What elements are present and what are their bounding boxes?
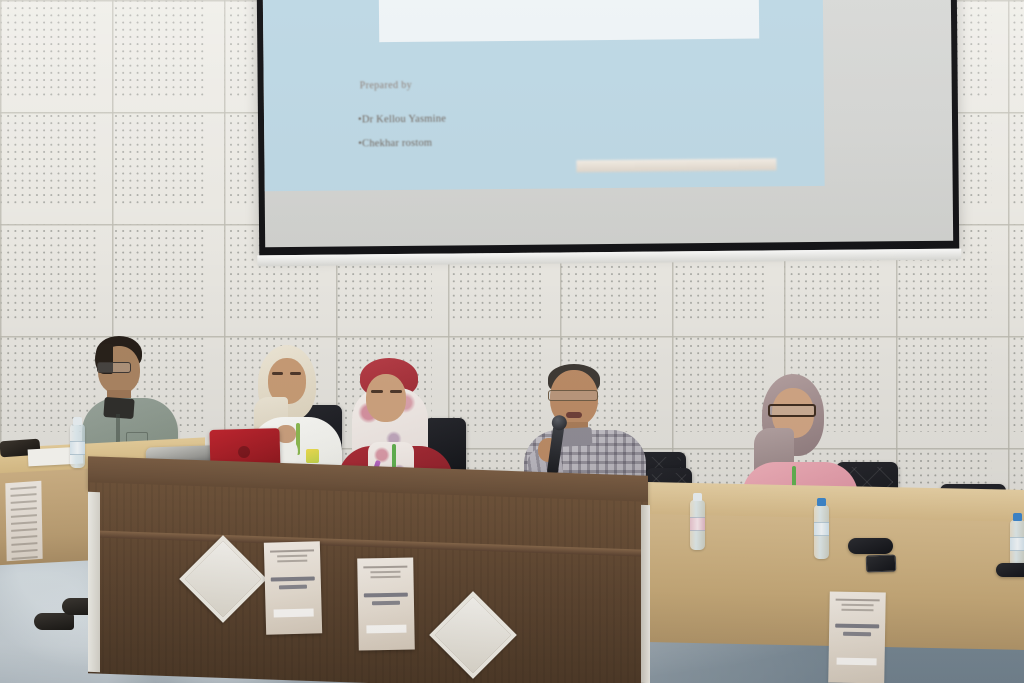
- panelist-5-glasses: [768, 404, 816, 417]
- panelist-4-glasses: [548, 390, 598, 401]
- bottle-label: [1010, 537, 1024, 551]
- panelist-2-badge: [306, 449, 319, 463]
- panelist-3-face-cut: [366, 376, 406, 422]
- panelist-1-shoe-left: [34, 613, 74, 630]
- slide-author-2: •Chekhar rostom: [358, 138, 432, 150]
- poster-left-table: [5, 481, 42, 561]
- water-bottle-left[interactable]: [70, 424, 85, 468]
- poster-podium-2: [357, 558, 415, 651]
- head-table-edge-left: [88, 492, 100, 672]
- slide-bottom-strip: [576, 158, 776, 172]
- projection-screen: Theories” course in the Master’s level a…: [257, 0, 960, 255]
- mobile-phone[interactable]: [866, 554, 897, 572]
- bottle-label: [814, 522, 829, 536]
- projected-slide: Theories” course in the Master’s level a…: [263, 0, 825, 191]
- dark-object-far-right: [996, 563, 1024, 577]
- bottle-cap: [693, 493, 702, 501]
- panelist-1-glasses: [97, 362, 131, 373]
- bottle-cap: [817, 498, 826, 506]
- projection-screen-surface: Theories” course in the Master’s level a…: [263, 0, 953, 247]
- conference-photo-scene: Theories” course in the Master’s level a…: [0, 0, 1024, 683]
- water-bottle-right-1[interactable]: [690, 500, 705, 550]
- slide-prepared-by-label: Prepared by: [360, 80, 413, 92]
- bottle-label: [690, 517, 705, 531]
- slide-white-panel: [378, 0, 759, 42]
- head-table-edge-right: [641, 505, 650, 683]
- panelist-3-brow-a: [371, 390, 383, 393]
- panelist-3-brow-b: [390, 390, 402, 393]
- panelist-2-brow: [272, 372, 283, 375]
- water-bottle-right-2[interactable]: [814, 505, 829, 559]
- poster-right-table: [828, 592, 886, 683]
- slide-author-1: •Dr Kellou Yasmine: [358, 114, 446, 126]
- poster-podium-1: [264, 541, 322, 634]
- bottle-cap: [1013, 513, 1022, 521]
- panelist-2-brow-2: [290, 372, 301, 375]
- panelist-4-mouth: [566, 412, 582, 418]
- laptop-logo: [238, 446, 250, 458]
- bottle-label: [70, 441, 85, 455]
- bottle-cap: [73, 417, 82, 425]
- glasses-pouch[interactable]: [848, 538, 893, 554]
